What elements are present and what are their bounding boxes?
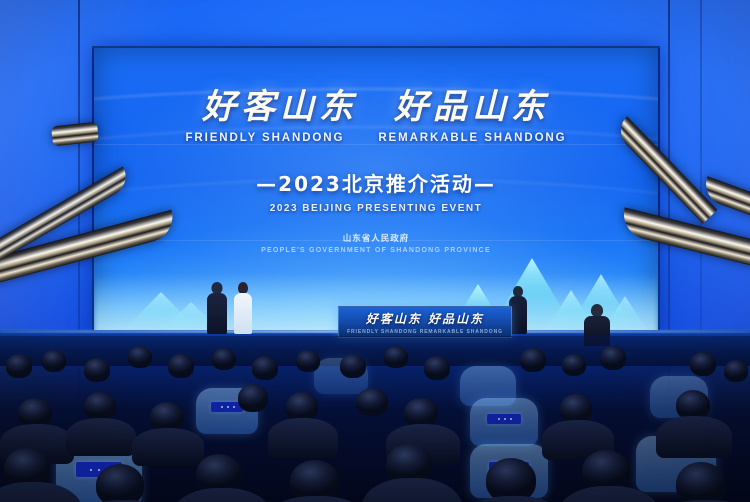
audience-head <box>424 356 450 380</box>
chair-plate-dot <box>227 406 229 408</box>
headline-latin-row: FRIENDLY SHANDONG REMARKABLE SHANDONG <box>186 132 567 144</box>
screen-text-block: 好客山东 好品山东 FRIENDLY SHANDONG REMARKABLE S… <box>94 48 658 336</box>
lectern-led-banner: 好客山东 好品山东 FRIENDLY SHANDONG REMARKABLE S… <box>338 306 512 338</box>
chair-back <box>470 398 538 446</box>
stage-person-male-host <box>206 282 228 334</box>
led-backdrop-screen: 好客山东 好品山东 FRIENDLY SHANDONG REMARKABLE S… <box>92 46 660 338</box>
stage-person-female-host <box>232 282 254 334</box>
audience-head <box>252 356 278 380</box>
chair-plate-dot <box>504 418 506 420</box>
audience-head <box>96 464 144 502</box>
audience-shoulders <box>362 478 462 502</box>
headline-en-left: FRIENDLY SHANDONG <box>186 132 345 144</box>
headline-cn-right: 好品山东 <box>394 90 550 124</box>
lectern-headline-cn: 好客山东 好品山东 <box>366 310 484 327</box>
organizer-name-en: PEOPLE'S GOVERNMENT OF SHANDONG PROVINCE <box>261 247 491 254</box>
audience-head <box>690 352 716 376</box>
audience-head <box>168 354 194 378</box>
audience-area <box>0 336 750 502</box>
audience-head <box>384 346 408 368</box>
audience-shoulders <box>172 488 272 502</box>
headline-cn-left: 好客山东 <box>202 90 358 124</box>
audience-head <box>520 348 546 372</box>
audience-shoulders <box>132 428 204 466</box>
audience-shoulders <box>268 418 338 458</box>
audience-shoulders <box>66 418 136 456</box>
chair-plate-dot <box>98 469 100 471</box>
audience-head <box>6 354 32 378</box>
audience-head <box>562 354 586 376</box>
chair-plate-dot <box>498 418 500 420</box>
event-title-en: 2023 BEIJING PRESENTING EVENT <box>270 203 482 214</box>
audience-head <box>84 358 110 382</box>
audience-head <box>84 392 116 420</box>
audience-head <box>42 350 66 372</box>
audience-head <box>676 462 726 502</box>
audience-head <box>296 350 320 372</box>
organizer-name-cn: 山东省人民政府 <box>343 232 410 244</box>
headline-calligraphy-row: 好客山东 好品山东 <box>202 90 550 124</box>
audience-head <box>128 346 152 368</box>
chair-plate-dot <box>221 406 223 408</box>
audience-head <box>212 348 236 370</box>
audience-head <box>600 346 626 370</box>
audience-head <box>238 384 268 412</box>
audience-shoulders <box>656 416 732 458</box>
person-body <box>207 293 227 334</box>
stage-event-photo: 好客山东 好品山东 FRIENDLY SHANDONG REMARKABLE S… <box>0 0 750 502</box>
chair-plate-dot <box>90 469 92 471</box>
audience-shoulders <box>264 496 370 502</box>
chair-plate-dot <box>233 406 235 408</box>
chair-plate-dot <box>510 418 512 420</box>
audience-head <box>340 354 366 378</box>
audience-head <box>724 360 748 382</box>
audience-head <box>356 388 388 416</box>
event-title-cn: —2023北京推介活动— <box>256 168 496 197</box>
chair-plate <box>487 414 521 424</box>
lectern-headline-en: FRIENDLY SHANDONG REMARKABLE SHANDONG <box>347 329 503 335</box>
person-body <box>234 293 252 334</box>
headline-en-right: REMARKABLE SHANDONG <box>378 132 566 144</box>
